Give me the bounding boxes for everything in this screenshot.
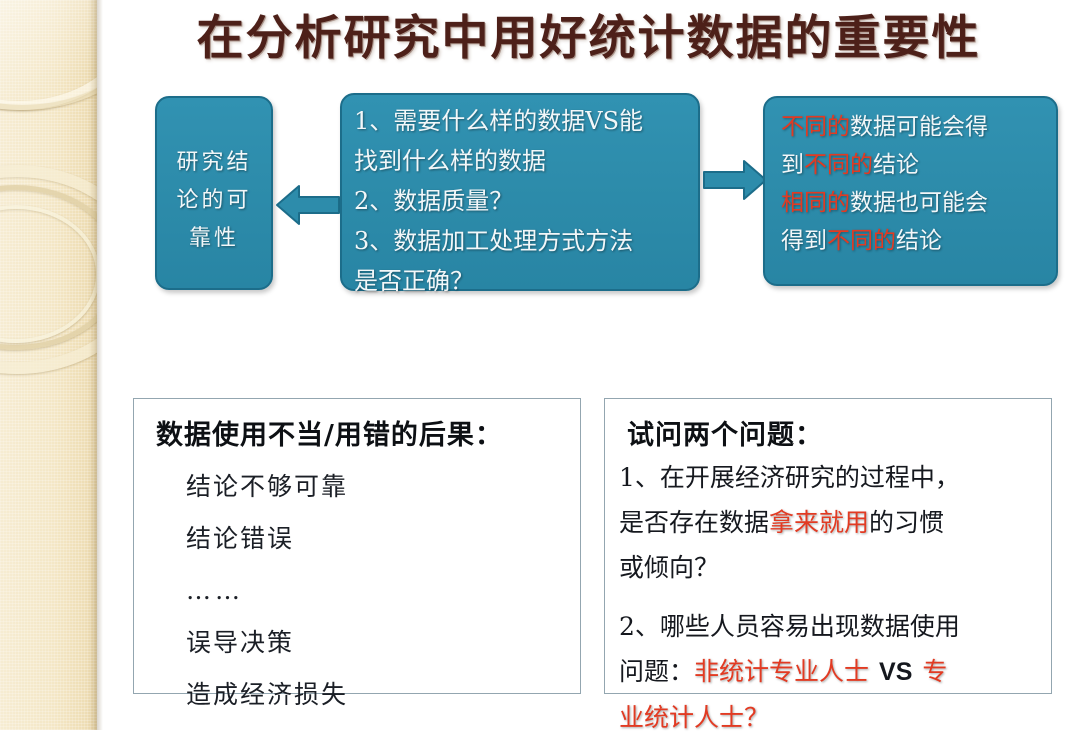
conclusions-l4-rest: 结论 [896,228,942,254]
q2-l2-pre: 问题： [619,657,694,686]
questions-panel: 试问两个问题： 1、在开展经济研究的过程中， 是否存在数据拿来就用的习惯 或倾向… [604,398,1052,694]
reliability-line-1: 研究结 [157,144,271,182]
flow-box-questions: 1、需要什么样的数据VS能 找到什么样的数据 2、数据质量？ 3、数据加工处理方… [340,93,700,291]
conclusions-l3-rest: 数据也可能会 [850,190,988,216]
q2-line-3: 业统计人士？ [619,695,1041,740]
mid-line-5: 是否正确？ [354,261,692,301]
questions-heading: 试问两个问题： [627,413,823,452]
q2-l2-red2: 专 [922,657,947,686]
reliability-line-2: 论的可 [157,182,271,220]
flow-box-conclusions-text: 不同的数据可能会得 到不同的结论 相同的数据也可能会 得到不同的结论 [781,108,1048,260]
conclusions-l2-pre: 到 [781,152,804,178]
q2-line-2: 问题：非统计专业人士VS专 [619,649,1041,695]
conclusions-line-2: 到不同的结论 [781,146,1048,184]
q1-line-2: 是否存在数据拿来就用的习惯 [619,500,1041,545]
conclusions-l2-rest: 结论 [873,152,919,178]
list-item: 误导决策 [186,617,566,669]
flow-box-reliability-text: 研究结 论的可 靠性 [157,144,271,258]
flow-box-questions-text: 1、需要什么样的数据VS能 找到什么样的数据 2、数据质量？ 3、数据加工处理方… [354,101,692,301]
sidebar-drop-shadow [97,0,103,730]
q2-l2-vs: VS [869,658,922,686]
list-item: 结论不够可靠 [186,461,566,513]
mid-line-3: 2、数据质量？ [354,181,692,221]
conclusions-line-1: 不同的数据可能会得 [781,108,1048,146]
questions-list: 1、在开展经济研究的过程中， 是否存在数据拿来就用的习惯 或倾向？ 2、哪些人员… [619,455,1041,754]
flow-box-reliability: 研究结 论的可 靠性 [155,96,273,290]
q1-line-3: 或倾向？ [619,545,1041,590]
conclusions-l4-pre: 得到 [781,228,827,254]
reliability-line-3: 靠性 [157,220,271,258]
decorative-sheen [0,0,97,120]
conclusions-line-4: 得到不同的结论 [781,222,1048,260]
q1-l2-post: 的习惯 [869,508,944,537]
q1-line-1: 1、在开展经济研究的过程中， [619,455,1041,500]
question-1: 1、在开展经济研究的过程中， 是否存在数据拿来就用的习惯 或倾向？ [619,455,1041,590]
sidebar-edge-shade [89,0,97,730]
list-item-ellipsis: …… [186,565,566,617]
slide-title: 在分析研究中用好统计数据的重要性 [97,8,1080,70]
right-arrow-icon [702,158,768,206]
consequences-panel: 数据使用不当/用错的后果： 结论不够可靠 结论错误 …… 误导决策 造成经济损失 [133,398,581,694]
flow-box-conclusions: 不同的数据可能会得 到不同的结论 相同的数据也可能会 得到不同的结论 [763,96,1058,286]
list-item: 结论错误 [186,513,566,565]
mid-line-2: 找到什么样的数据 [354,141,692,181]
conclusions-line-3: 相同的数据也可能会 [781,184,1048,222]
mid-line-4: 3、数据加工处理方式方法 [354,221,692,261]
conclusions-l4-red: 不同的 [827,228,896,254]
consequences-list: 结论不够可靠 结论错误 …… 误导决策 造成经济损失 [186,461,566,721]
mid-line-1: 1、需要什么样的数据VS能 [354,101,692,141]
q2-line-1: 2、哪些人员容易出现数据使用 [619,604,1041,649]
q1-l2-pre: 是否存在数据 [619,508,769,537]
conclusions-l1-red: 不同的 [781,114,850,140]
q2-l2-red: 非统计专业人士 [694,657,869,686]
decorative-sidebar [0,0,97,730]
consequences-heading: 数据使用不当/用错的后果： [156,413,503,452]
conclusions-l1-rest: 数据可能会得 [850,114,988,140]
list-item: 造成经济损失 [186,669,566,721]
q1-l2-red: 拿来就用 [769,508,869,537]
question-2: 2、哪些人员容易出现数据使用 问题：非统计专业人士VS专 业统计人士？ [619,604,1041,740]
conclusions-l3-red: 相同的 [781,190,850,216]
conclusions-l2-red: 不同的 [804,152,873,178]
left-arrow-icon [275,183,341,231]
